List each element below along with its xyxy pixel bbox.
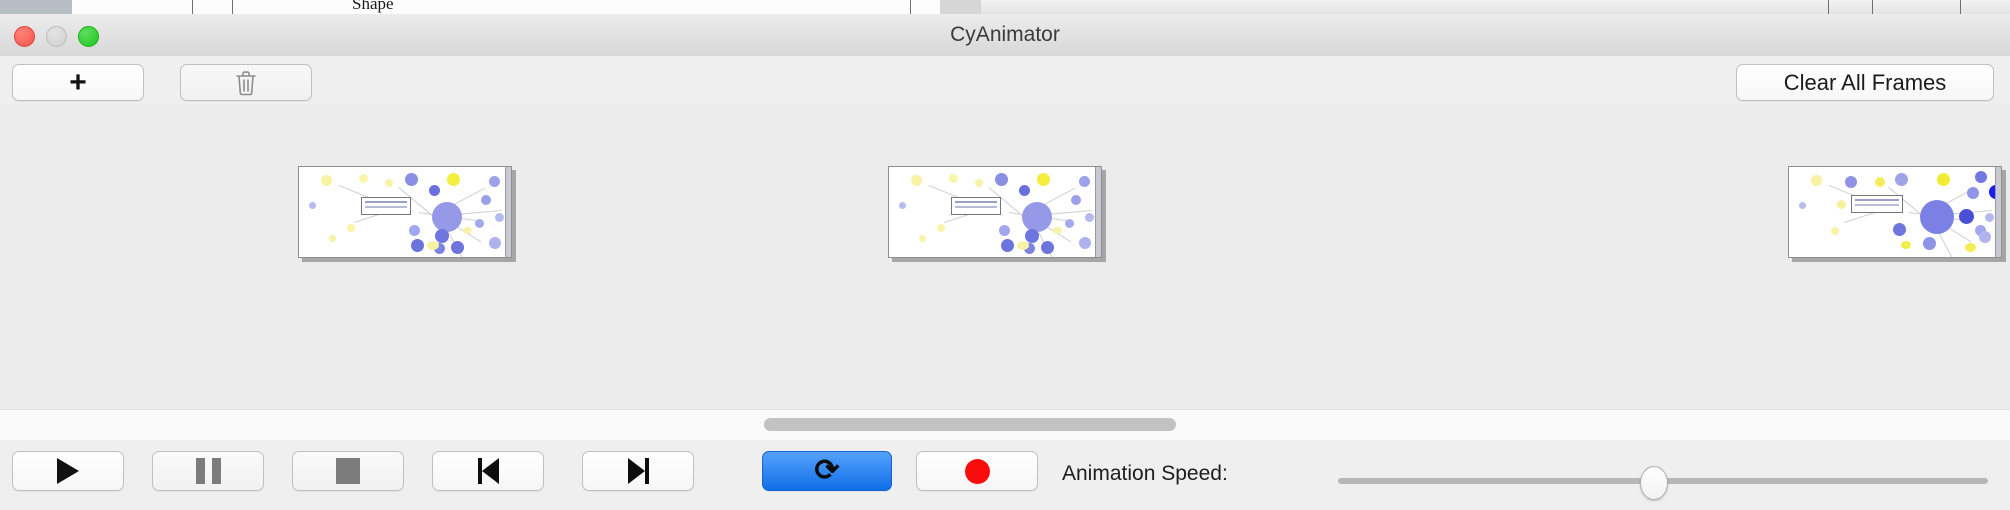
trash-icon	[234, 69, 258, 97]
clear-all-frames-button[interactable]: Clear All Frames	[1736, 64, 1994, 101]
timeline-scrollbar-thumb[interactable]	[764, 418, 1176, 431]
network-thumbnail-graphic	[1789, 167, 2001, 257]
pause-button[interactable]	[152, 451, 264, 491]
loop-button[interactable]: ⟳	[762, 451, 892, 491]
toolbar: + Clear All Frames	[0, 56, 2010, 105]
record-icon	[965, 459, 990, 484]
loop-icon: ⟳	[814, 456, 839, 486]
record-button[interactable]	[916, 451, 1038, 491]
next-frame-button[interactable]	[582, 451, 694, 491]
network-thumbnail-graphic	[889, 167, 1101, 257]
play-button[interactable]	[12, 451, 124, 491]
transport-bar: ⟳ Animation Speed:	[0, 440, 2010, 510]
pause-icon	[196, 458, 221, 484]
timeline-panel[interactable]: 12 13 14 15 16 17 18 Seconds	[0, 104, 2010, 409]
background-window-sliver: Shape	[0, 0, 2010, 14]
window-title: CyAnimator	[0, 14, 2010, 56]
skip-forward-icon	[628, 458, 649, 484]
clear-all-frames-label: Clear All Frames	[1784, 70, 1947, 96]
delete-frame-button[interactable]	[180, 64, 312, 101]
stop-button[interactable]	[292, 451, 404, 491]
add-frame-button[interactable]: +	[12, 64, 144, 101]
play-icon	[57, 458, 79, 484]
cyanimator-window: Shape CyAnimator + Clear All Frames	[0, 0, 2010, 510]
skip-back-icon	[478, 458, 499, 484]
timeline-scrollbar[interactable]	[0, 409, 2010, 441]
network-thumbnail-graphic	[299, 167, 511, 257]
background-window-text: Shape	[352, 0, 394, 14]
thumbnail-tooltip	[361, 197, 411, 215]
keyframe-thumbnail[interactable]	[1788, 166, 2002, 258]
animation-speed-slider-thumb[interactable]	[1640, 466, 1668, 500]
keyframe-thumbnail[interactable]	[888, 166, 1102, 258]
stop-icon	[336, 458, 360, 484]
thumbnail-tooltip	[951, 197, 1001, 215]
keyframe-thumbnail[interactable]	[298, 166, 512, 258]
plus-icon: +	[69, 68, 87, 98]
animation-speed-label: Animation Speed:	[1062, 462, 1228, 486]
title-bar: CyAnimator	[0, 14, 2010, 57]
previous-frame-button[interactable]	[432, 451, 544, 491]
thumbnail-tooltip	[1851, 195, 1903, 213]
